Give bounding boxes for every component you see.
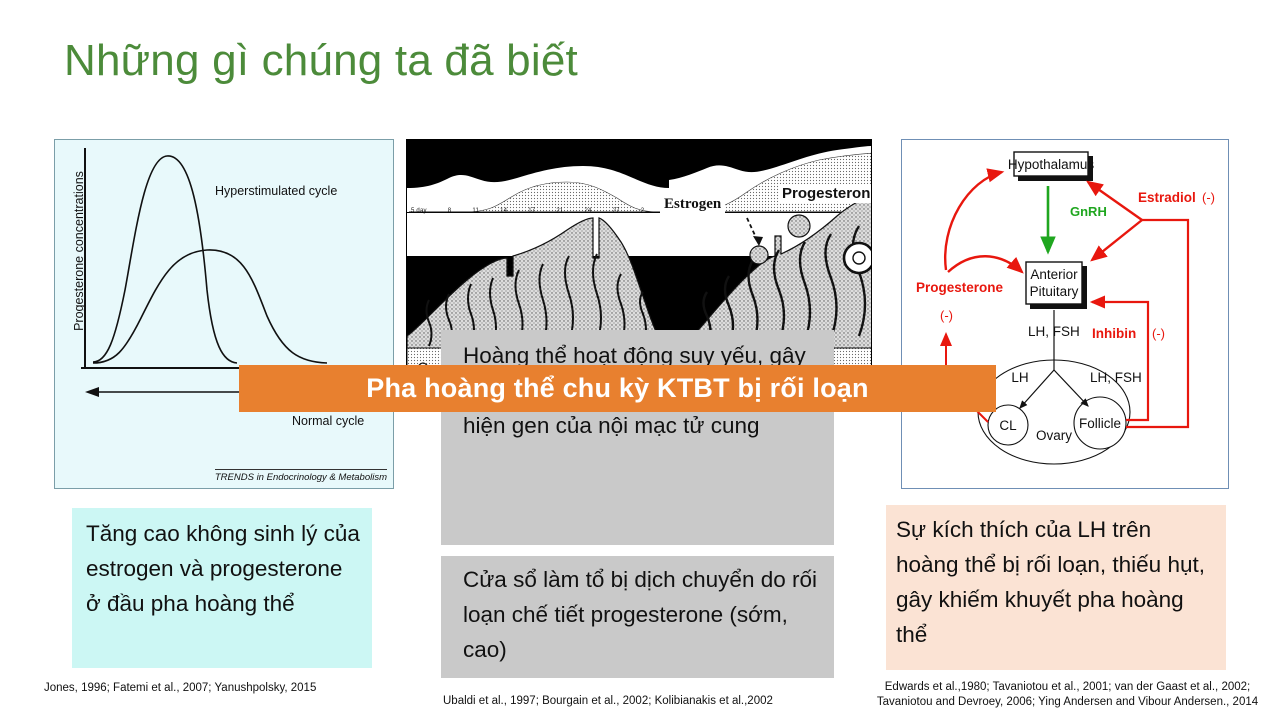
day-tick: 2 <box>641 208 645 214</box>
svg-text:Follicle: Follicle <box>1079 416 1121 431</box>
figure-hpo-axis-diagram: Hypothalamus Anterior Pituitary GnRH LH,… <box>901 139 1229 489</box>
slide-canvas: Những gì chúng ta đã biết Progesterone c… <box>0 0 1280 720</box>
svg-text:(-): (-) <box>940 308 953 323</box>
svg-text:Progesterone: Progesterone <box>916 280 1004 295</box>
svg-text:Inhibin: Inhibin <box>1092 326 1136 341</box>
label-progesterone: Progesterone <box>779 184 872 203</box>
day-tick: 8 <box>448 208 452 214</box>
svg-text:Estradiol: Estradiol <box>1138 190 1196 205</box>
svg-text:LH, FSH: LH, FSH <box>1090 370 1142 385</box>
svg-text:Pituitary: Pituitary <box>1030 284 1079 299</box>
chart-label-normal: Normal cycle <box>292 414 364 428</box>
svg-text:Anterior: Anterior <box>1030 267 1078 282</box>
endometrium-day-scale: 5 day 8 11 14 17 21 24 27 2 5 <box>409 204 671 218</box>
svg-text:GnRH: GnRH <box>1070 204 1107 219</box>
day-tick: 17 <box>528 208 535 214</box>
label-estrogen: Estrogen <box>660 195 725 214</box>
callout-supraphysiologic-hormones: Tăng cao không sinh lý của estrogen và p… <box>72 508 372 668</box>
day-tick: 5 day <box>411 208 427 214</box>
citation-right-line-1: Edwards et al.,1980; Tavaniotou et al., … <box>855 680 1280 695</box>
svg-text:(-): (-) <box>1202 190 1215 205</box>
citation-left: Jones, 1996; Fatemi et al., 2007; Yanush… <box>44 681 316 696</box>
day-tick: 27 <box>613 208 620 214</box>
svg-text:LH, FSH: LH, FSH <box>1028 324 1080 339</box>
callout-text: Tăng cao không sinh lý của estrogen và p… <box>86 516 362 621</box>
svg-text:Ovary: Ovary <box>1036 428 1072 443</box>
callout-text: Cửa sổ làm tổ bị dịch chuyển do rối loạn… <box>463 562 824 667</box>
hpo-axis-svg: Hypothalamus Anterior Pituitary GnRH LH,… <box>902 140 1230 490</box>
callout-lh-support: Sự kích thích của LH trên hoàng thể bị r… <box>886 505 1226 670</box>
citation-middle: Ubaldi et al., 1997; Bourgain et al., 20… <box>443 694 773 709</box>
citation-right-line-2: Tavaniotou and Devroey, 2006; Ying Ander… <box>855 695 1280 710</box>
callout-implantation-window: Cửa sổ làm tổ bị dịch chuyển do rối loạn… <box>441 556 834 678</box>
svg-text:Hypothalamus: Hypothalamus <box>1008 157 1095 172</box>
day-tick: 14 <box>500 208 507 214</box>
banner-luteal-phase-disorder: Pha hoàng thể chu kỳ KTBT bị rối loạn <box>239 365 996 412</box>
callout-endometrium-gene: Hoàng thể hoạt động suy yếu, gây biến đổ… <box>441 330 834 545</box>
day-tick: 21 <box>556 208 563 214</box>
chart-label-hyperstimulated: Hyperstimulated cycle <box>215 184 337 198</box>
page-title: Những gì chúng ta đã biết <box>64 36 578 86</box>
svg-text:CL: CL <box>999 418 1017 433</box>
figure-progesterone-chart: Progesterone concentrations Hyperstimula… <box>54 139 394 489</box>
citation-right: Edwards et al.,1980; Tavaniotou et al., … <box>855 680 1280 710</box>
callout-text: Sự kích thích của LH trên hoàng thể bị r… <box>896 512 1216 652</box>
chart-source-credit: TRENDS in Endocrinology & Metabolism <box>215 469 387 483</box>
day-tick: 11 <box>472 208 479 214</box>
svg-text:(-): (-) <box>1152 326 1165 341</box>
banner-text: Pha hoàng thể chu kỳ KTBT bị rối loạn <box>366 373 868 404</box>
day-tick: 24 <box>584 208 591 214</box>
svg-text:LH: LH <box>1011 370 1028 385</box>
